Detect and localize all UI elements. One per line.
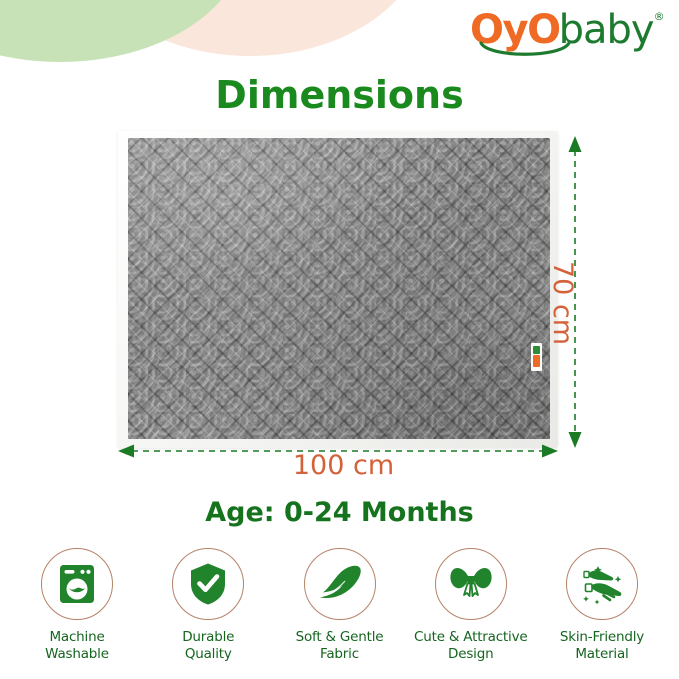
feature-label: Machine Washable bbox=[45, 629, 109, 663]
logo-smile-curve-icon bbox=[479, 41, 571, 61]
width-dimension-label: 100 cm bbox=[0, 450, 679, 481]
feature-icon-circle bbox=[172, 548, 244, 620]
bow-ribbon-icon bbox=[447, 562, 495, 606]
hands-sparkle-icon bbox=[578, 563, 626, 605]
logo-baby-text: baby bbox=[559, 8, 654, 52]
height-dimension-label: 70 cm bbox=[547, 261, 578, 345]
feature-label-line1: Soft & Gentle bbox=[296, 629, 384, 646]
feature-label-line2: Washable bbox=[45, 646, 109, 663]
feature-item-skin-friendly-material: Skin-Friendly Material bbox=[539, 548, 665, 663]
feature-list: Machine Washable Durable Quality bbox=[0, 548, 679, 679]
feature-label: Cute & Attractive Design bbox=[414, 629, 527, 663]
feature-label-line2: Fabric bbox=[296, 646, 384, 663]
feature-label-line1: Durable bbox=[182, 629, 234, 646]
feather-icon bbox=[317, 565, 363, 603]
feature-icon-circle bbox=[435, 548, 507, 620]
age-range-text: Age: 0-24 Months bbox=[0, 497, 679, 528]
product-fabric-texture bbox=[128, 138, 550, 439]
tag-orange-mark bbox=[533, 355, 540, 367]
decorative-blob-green bbox=[0, 0, 246, 62]
feature-item-machine-washable: Machine Washable bbox=[14, 548, 140, 663]
feature-label-line2: Quality bbox=[182, 646, 234, 663]
feature-label-line2: Material bbox=[560, 646, 644, 663]
brand-logo: OyO baby ® bbox=[470, 8, 670, 60]
feature-item-durable-quality: Durable Quality bbox=[145, 548, 271, 663]
shield-check-icon bbox=[188, 562, 228, 606]
infographic-page: OyO baby ® Dimensions 70 cm 100 cm Age: … bbox=[0, 0, 679, 679]
feature-label: Durable Quality bbox=[182, 629, 234, 663]
feature-label-line1: Machine bbox=[45, 629, 109, 646]
feature-label: Soft & Gentle Fabric bbox=[296, 629, 384, 663]
washing-machine-icon bbox=[57, 563, 97, 605]
registered-mark-icon: ® bbox=[654, 10, 665, 24]
feature-label-line1: Cute & Attractive bbox=[414, 629, 527, 646]
feature-icon-circle bbox=[304, 548, 376, 620]
tag-green-mark bbox=[533, 346, 540, 354]
product-image-frame bbox=[118, 131, 558, 448]
feature-item-soft-gentle-fabric: Soft & Gentle Fabric bbox=[277, 548, 403, 663]
feature-icon-circle bbox=[41, 548, 113, 620]
feature-item-cute-attractive-design: Cute & Attractive Design bbox=[408, 548, 534, 663]
decorative-blob-peach bbox=[74, 0, 426, 56]
feature-icon-circle bbox=[566, 548, 638, 620]
page-title: Dimensions bbox=[0, 73, 679, 117]
feature-label-line2: Design bbox=[414, 646, 527, 663]
product-brand-tag bbox=[531, 343, 542, 371]
feature-label: Skin-Friendly Material bbox=[560, 629, 644, 663]
feature-label-line1: Skin-Friendly bbox=[560, 629, 644, 646]
